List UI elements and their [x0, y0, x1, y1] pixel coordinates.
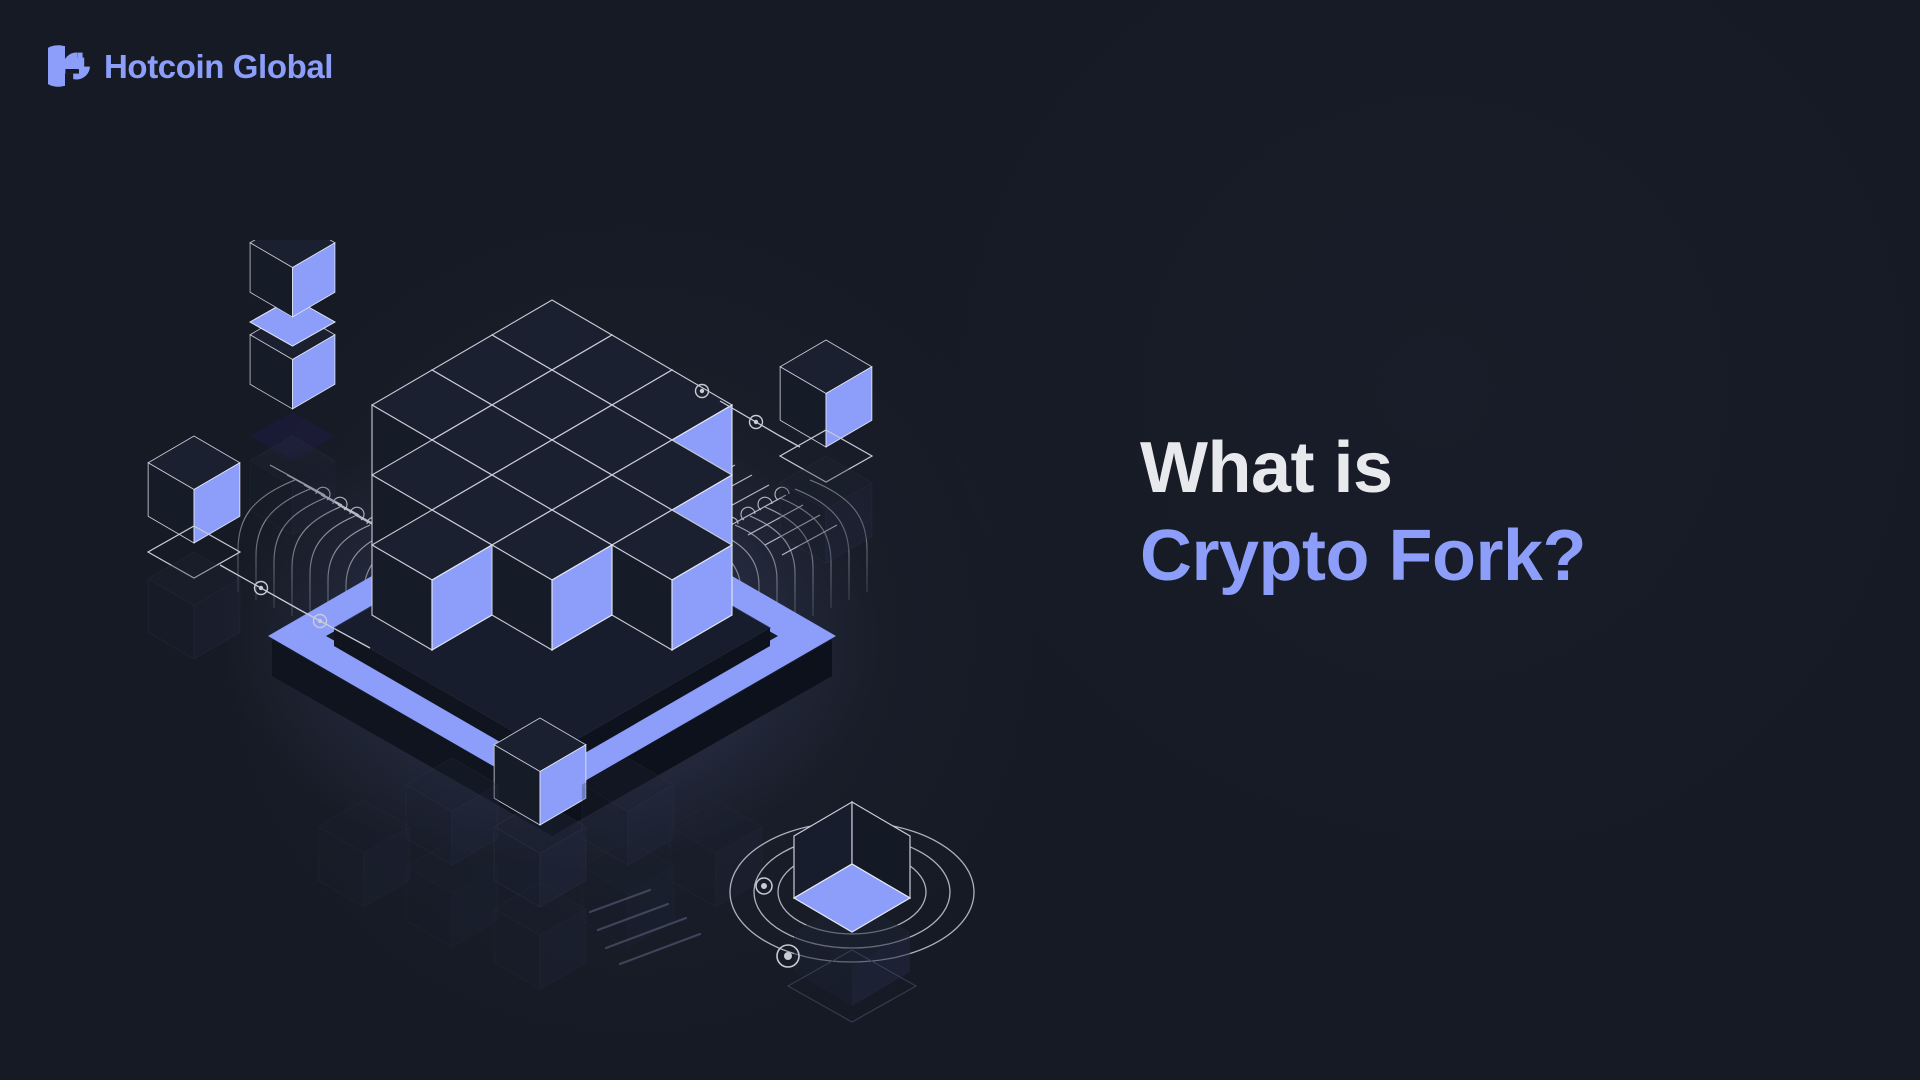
page-title: What is Crypto Fork? [1140, 425, 1586, 601]
page-title-line-2: Crypto Fork? [1140, 513, 1586, 601]
hotcoin-infinity-logo-icon [48, 45, 90, 87]
background-glow-right [940, 0, 1920, 840]
page-title-line-1: What is [1140, 425, 1586, 513]
brand-logo[interactable]: Hotcoin Global [48, 40, 333, 92]
brand-name: Hotcoin Global [104, 50, 333, 83]
isometric-blockchain-chip-illustration [120, 240, 1040, 1040]
